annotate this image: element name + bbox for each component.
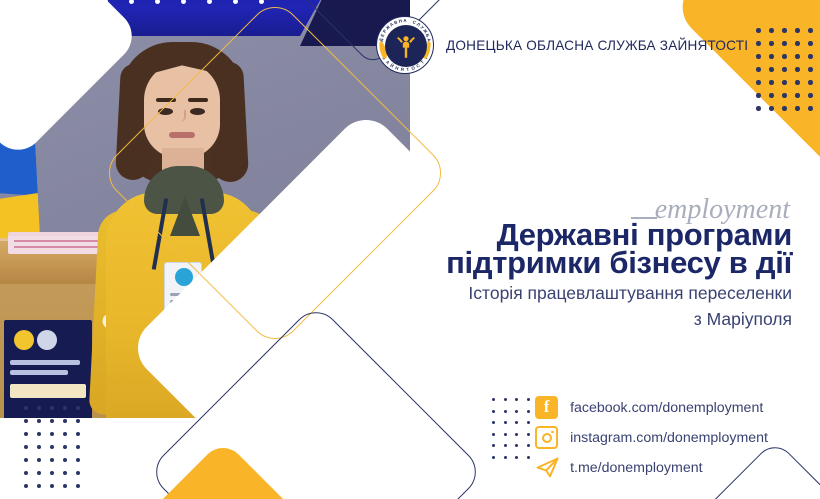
grid-dot	[63, 445, 67, 449]
grid-dot	[769, 54, 774, 59]
grid-dot	[76, 484, 80, 488]
grid-dot	[37, 445, 41, 449]
grid-dot	[769, 93, 774, 98]
grid-dot	[808, 67, 813, 72]
grid-dot	[756, 80, 761, 85]
grid-dot	[76, 445, 80, 449]
grid-dot	[50, 445, 54, 449]
grid-dot	[527, 444, 530, 447]
grid-dot	[795, 80, 800, 85]
grid-dot	[50, 471, 54, 475]
grid-dot	[515, 444, 518, 447]
human-figure-icon	[394, 33, 418, 59]
instagram-url[interactable]: instagram.com/donemployment	[570, 430, 768, 446]
grid-dot	[63, 484, 67, 488]
social-link-instagram[interactable]: instagram.com/donemployment	[535, 426, 768, 449]
grid-dot	[24, 484, 28, 488]
grid-dot	[808, 54, 813, 59]
logo-core	[385, 25, 427, 67]
grid-dot	[37, 419, 41, 423]
grid-dot	[50, 458, 54, 462]
grid-dot	[63, 458, 67, 462]
grid-dot	[782, 106, 787, 111]
grid-dot	[76, 432, 80, 436]
panel-icon	[14, 330, 34, 350]
grid-dot	[63, 432, 67, 436]
facebook-url[interactable]: facebook.com/donemployment	[570, 400, 763, 416]
grid-dot	[795, 41, 800, 46]
grid-dot	[769, 28, 774, 33]
instagram-dot	[551, 431, 554, 434]
grid-dot	[50, 432, 54, 436]
grid-dot	[795, 67, 800, 72]
panel-text-line	[10, 370, 68, 375]
grid-dot	[50, 419, 54, 423]
instagram-icon[interactable]	[535, 426, 558, 449]
state-employment-service-emblem-icon: ДЕРЖАВНА СЛУЖБАЗАЙНЯТОСТІ	[376, 16, 434, 74]
grid-dot	[63, 471, 67, 475]
grid-dot	[769, 106, 774, 111]
wall-light-dot	[181, 0, 186, 4]
wall-light-dot	[155, 0, 160, 4]
grid-dot	[808, 80, 813, 85]
grid-dot	[24, 445, 28, 449]
grid-dot	[63, 419, 67, 423]
grid-dot	[504, 456, 507, 459]
wall-light-dot	[259, 0, 264, 4]
organization-name: ДОНЕЦЬКА ОБЛАСНА СЛУЖБА ЗАЙНЯТОСТІ	[446, 38, 748, 53]
panel-text-line	[10, 360, 80, 365]
wall-light-dot	[233, 0, 238, 4]
wall-light-dot	[129, 0, 134, 4]
grid-dot	[24, 471, 28, 475]
grid-dot	[769, 80, 774, 85]
grid-dot	[808, 41, 813, 46]
grid-dot	[24, 458, 28, 462]
grid-dot	[769, 41, 774, 46]
grid-dot	[756, 67, 761, 72]
grid-dot	[76, 471, 80, 475]
panel-icon	[37, 330, 57, 350]
grid-dot	[24, 432, 28, 436]
grid-dot	[782, 54, 787, 59]
grid-dot	[782, 80, 787, 85]
grid-dot	[782, 41, 787, 46]
social-links: facebook.com/donemployment instagram.com…	[535, 396, 768, 479]
logo-ring-char	[409, 18, 411, 23]
grid-dot	[37, 471, 41, 475]
telegram-icon[interactable]	[535, 456, 558, 479]
logo-ring-char: Е	[380, 33, 386, 38]
page-title-line-2: підтримки бізнесу в дії	[252, 247, 792, 279]
wall-light-dot	[207, 0, 212, 4]
grid-dot	[795, 93, 800, 98]
page-subtitle-line-2: з Маріуполя	[252, 309, 792, 330]
social-link-facebook[interactable]: facebook.com/donemployment	[535, 396, 763, 419]
logo-ring-char: Я	[400, 67, 404, 72]
grid-dot	[808, 106, 813, 111]
grid-dot	[37, 458, 41, 462]
grid-dot	[50, 484, 54, 488]
grid-dot	[756, 93, 761, 98]
grid-dot	[795, 106, 800, 111]
grid-dot	[756, 54, 761, 59]
grid-dot	[769, 67, 774, 72]
grid-dot	[756, 28, 761, 33]
logo-ring-char: Т	[406, 67, 409, 72]
facebook-icon[interactable]	[535, 396, 558, 419]
social-link-telegram[interactable]: t.me/donemployment	[535, 456, 702, 479]
script-accent-word: employment	[655, 196, 792, 224]
grid-dot	[527, 410, 530, 413]
grid-dot	[808, 93, 813, 98]
telegram-url[interactable]: t.me/donemployment	[570, 460, 702, 476]
grid-dot	[24, 419, 28, 423]
grid-dot	[76, 458, 80, 462]
grid-dot	[782, 28, 787, 33]
info-panel-left	[4, 320, 92, 418]
logo-ring-char: Н	[398, 18, 402, 24]
grid-dot	[795, 54, 800, 59]
logo-ring-char: Н	[395, 65, 400, 71]
panel-highlight-bar	[10, 384, 86, 398]
grid-dot	[504, 433, 507, 436]
grid-dot	[504, 410, 507, 413]
telegram-plane-glyph	[535, 456, 560, 479]
grid-dot	[782, 93, 787, 98]
grid-dot	[37, 484, 41, 488]
grid-dot	[515, 456, 518, 459]
logo-ring-char: В	[393, 19, 398, 25]
grid-dot	[795, 28, 800, 33]
page-subtitle-line-1: Історія працевлаштування переселенки	[252, 283, 792, 304]
grid-dot	[37, 432, 41, 436]
grid-dot	[527, 433, 530, 436]
grid-dot	[76, 419, 80, 423]
headline-block: employment Державні програми підтримки б…	[252, 196, 792, 330]
logo-ring-char: А	[403, 18, 406, 23]
brand-header: ДЕРЖАВНА СЛУЖБАЗАЙНЯТОСТІ ДОНЕЦЬКА ОБЛАС…	[376, 16, 748, 74]
instagram-lens	[542, 433, 552, 443]
grid-dot	[756, 106, 761, 111]
poster-canvas: ДЕРЖАВНА СЛУЖБАЗАЙНЯТОСТІ ДОНЕЦЬКА ОБЛАС…	[0, 0, 820, 499]
grid-dot	[756, 41, 761, 46]
grid-dot	[527, 456, 530, 459]
grid-dot	[808, 28, 813, 33]
grid-dot	[782, 67, 787, 72]
